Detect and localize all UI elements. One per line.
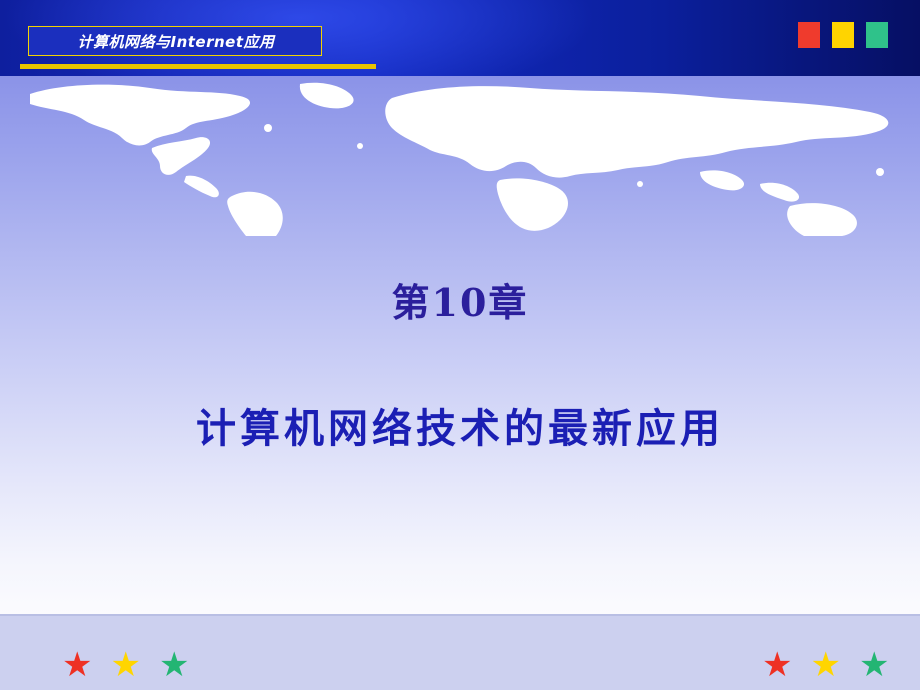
green-square-icon: [866, 22, 888, 48]
header-decor-squares: [798, 22, 888, 48]
red-square-icon: [798, 22, 820, 48]
presentation-slide: 计算机网络与Internet应用: [0, 0, 920, 690]
footer-divider: [0, 614, 920, 616]
star-green-icon: ★: [159, 648, 189, 682]
chapter-label: 第10章: [0, 272, 920, 327]
star-red-icon: ★: [762, 648, 792, 682]
slide-title: 计算机网络技术的最新应用: [0, 396, 920, 454]
star-yellow-icon: ★: [810, 648, 840, 682]
star-green-icon: ★: [859, 648, 889, 682]
star-red-icon: ★: [62, 648, 92, 682]
header-gold-underline: [20, 64, 376, 69]
course-title-plate: 计算机网络与Internet应用: [28, 26, 322, 56]
footer-stars-left: ★ ★ ★: [62, 648, 189, 682]
yellow-square-icon: [832, 22, 854, 48]
footer-stars-right: ★ ★ ★: [762, 648, 889, 682]
world-map-graphic: [0, 76, 920, 236]
course-title-text: 计算机网络与Internet应用: [29, 27, 323, 57]
star-yellow-icon: ★: [110, 648, 140, 682]
